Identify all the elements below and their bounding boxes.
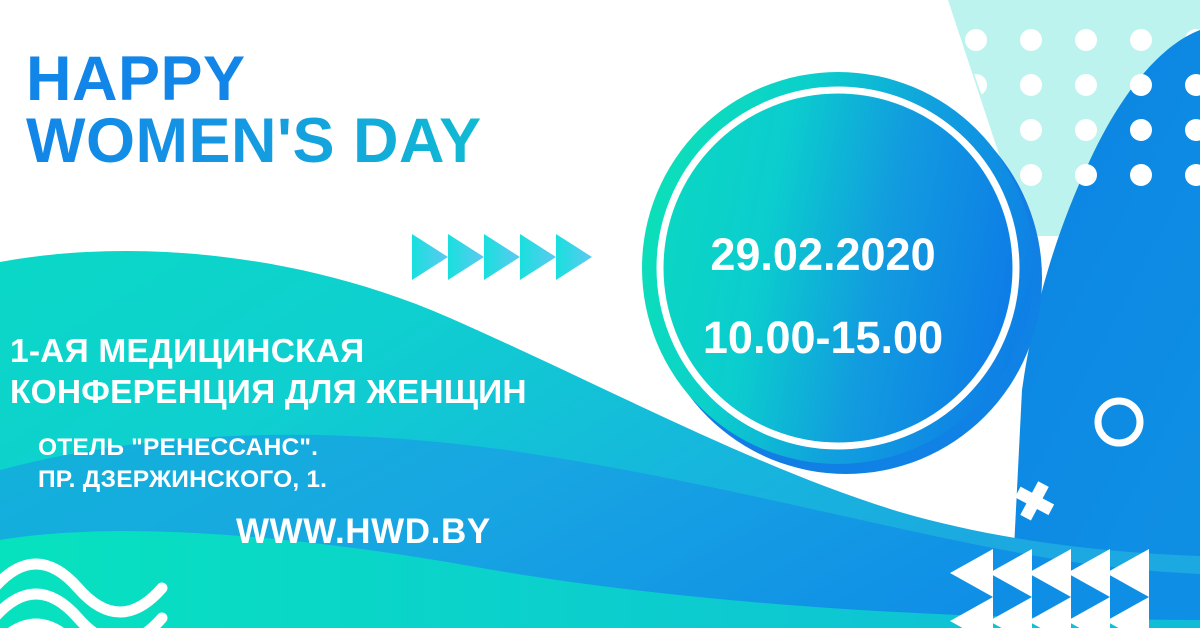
conference-title: 1-АЯ МЕДИЦИНСКАЯ КОНФЕРЕНЦИЯ ДЛЯ ЖЕНЩИН	[10, 332, 670, 414]
venue-address: ОТЕЛЬ "РЕНЕССАНС". ПР. ДЗЕРЖИНСКОГО, 1.	[38, 432, 658, 496]
page-title: HAPPY WOMEN'S DAY	[26, 48, 726, 173]
website-url[interactable]: WWW.HWD.BY	[236, 512, 491, 552]
venue-street: ПР. ДЗЕРЖИНСКОГО, 1.	[38, 464, 658, 496]
headline-line-1: HAPPY	[26, 48, 726, 110]
venue-name: ОТЕЛЬ "РЕНЕССАНС".	[38, 432, 658, 464]
conference-title-line-1: 1-АЯ МЕДИЦИНСКАЯ	[10, 332, 670, 373]
event-date: 29.02.2020	[658, 232, 988, 277]
conference-title-line-2: КОНФЕРЕНЦИЯ ДЛЯ ЖЕНЩИН	[10, 373, 670, 414]
date-badge-text: 29.02.2020 10.00-15.00	[658, 232, 988, 360]
headline-line-2: WOMEN'S DAY	[26, 110, 726, 172]
event-time: 10.00-15.00	[658, 315, 988, 360]
promo-banner: HAPPY WOMEN'S DAY 1-АЯ МЕДИЦИНСКАЯ КОНФЕ…	[0, 0, 1200, 628]
